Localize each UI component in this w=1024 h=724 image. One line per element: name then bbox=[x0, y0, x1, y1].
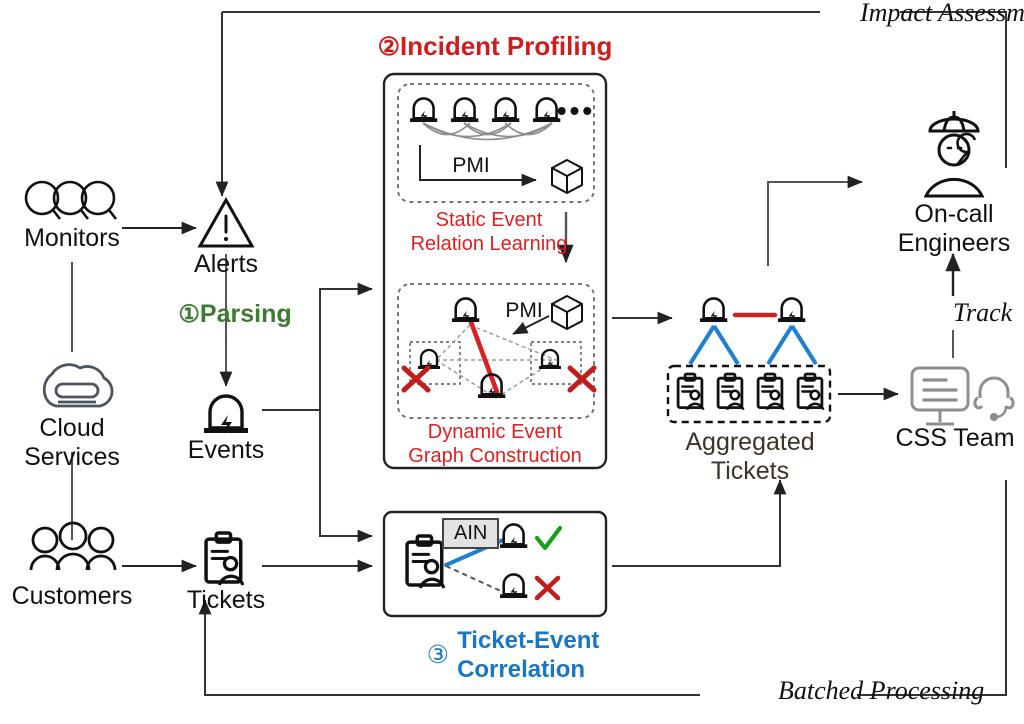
stage-label-incident-profiling: ②Incident Profiling bbox=[355, 32, 635, 62]
cloud-icon bbox=[44, 365, 112, 406]
static-event-icons bbox=[410, 98, 560, 122]
correlation-ticket-icon bbox=[407, 536, 444, 588]
correlation-event-matched bbox=[500, 524, 527, 548]
output-label-oncall-engineers: On-call Engineers bbox=[870, 200, 1024, 258]
source-label-monitors: Monitors bbox=[0, 224, 144, 253]
pruned-mark-right bbox=[570, 368, 594, 390]
ticket-clipboard-icon bbox=[206, 533, 243, 585]
static-output-cube-icon bbox=[552, 160, 582, 193]
model-badge-ain: AIN bbox=[442, 518, 499, 549]
stage-number-3: ③ bbox=[427, 641, 449, 670]
correlation-mismatch-link bbox=[446, 566, 503, 592]
stage-name-ticket-event-correlation: Ticket-Event Correlation bbox=[457, 626, 599, 684]
dynamic-pmi-label: PMI bbox=[494, 296, 554, 325]
stage-number-1: ① bbox=[178, 301, 200, 328]
dynamic-strong-edge bbox=[471, 322, 497, 392]
static-panel-caption: Static Event Relation Learning bbox=[398, 208, 580, 256]
warning-triangle-icon bbox=[200, 200, 252, 246]
source-label-cloud-services: Cloud Services bbox=[0, 414, 144, 472]
dynamic-event-node-top bbox=[452, 298, 479, 322]
aggregation-ticket-links bbox=[690, 326, 816, 364]
pruned-node-box-right bbox=[531, 342, 581, 384]
aggregation-events bbox=[700, 298, 805, 322]
diagram-canvas: Impact Assessment Batched Processing Tra… bbox=[0, 0, 1024, 724]
stage-name-incident-profiling: Incident Profiling bbox=[400, 31, 612, 61]
dynamic-input-cube-icon bbox=[552, 296, 582, 329]
correlation-cross-icon bbox=[537, 578, 558, 598]
artifact-label-events: Events bbox=[166, 436, 286, 465]
aggregated-ticket-icons bbox=[678, 374, 823, 410]
diagram-vector-layer bbox=[0, 0, 1024, 724]
static-cooccurrence-arcs bbox=[423, 123, 552, 140]
arrow-aggregation-to-engineers bbox=[768, 182, 862, 266]
static-events-ellipsis: ••• bbox=[556, 96, 596, 125]
aggregated-tickets-label: Aggregated Tickets bbox=[664, 428, 836, 486]
artifact-label-alerts: Alerts bbox=[166, 250, 286, 279]
dynamic-panel-caption: Dynamic Event Graph Construction bbox=[398, 420, 592, 468]
pruned-mark-left bbox=[404, 368, 428, 390]
static-pmi-label: PMI bbox=[436, 151, 506, 180]
artifact-label-tickets: Tickets bbox=[166, 586, 286, 615]
correlation-event-unmatched bbox=[500, 574, 527, 598]
stage-label-parsing: ①Parsing bbox=[150, 300, 320, 329]
source-label-customers: Customers bbox=[0, 582, 144, 611]
engineer-helmet-icon bbox=[926, 111, 982, 196]
stage-number-2: ② bbox=[378, 33, 400, 61]
magnifiers-icon bbox=[26, 182, 116, 219]
model-badge-label: AIN bbox=[454, 522, 487, 544]
arrow-correlation-to-aggregation bbox=[612, 480, 780, 566]
stage-name-parsing: Parsing bbox=[200, 300, 292, 328]
stage-label-ticket-event-correlation: ③ Ticket-Event Correlation bbox=[398, 626, 628, 684]
monitor-headset-icon bbox=[912, 368, 1013, 424]
correlation-check-icon bbox=[537, 528, 560, 548]
output-label-css-team: CSS Team bbox=[880, 424, 1024, 453]
event-bell-icon bbox=[204, 396, 248, 434]
